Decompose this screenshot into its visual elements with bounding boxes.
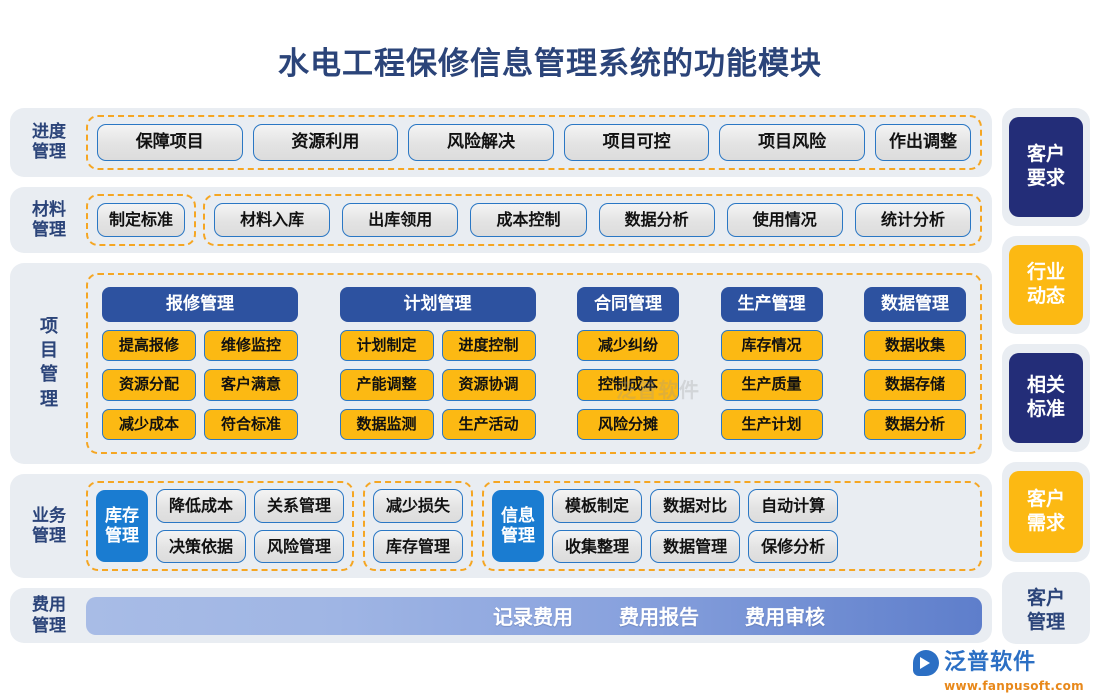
column-items-plan: 计划制定 进度控制 产能调整 资源协调 数据监测 生产活动 — [340, 330, 536, 441]
block-line-1: 信息 — [501, 506, 535, 527]
item-material-5[interactable]: 统计分析 — [855, 203, 971, 237]
section-label-material: 材料 管理 — [18, 200, 80, 240]
item-business-a-1-1[interactable]: 风险管理 — [254, 530, 344, 564]
rail-slot-2: 相关 标准 — [1002, 344, 1090, 452]
rail-slot-0: 客户 要求 — [1002, 108, 1090, 226]
rail-line-2: 标准 — [1027, 398, 1065, 422]
chip-production-2[interactable]: 生产计划 — [721, 409, 823, 441]
item-business-c-0-0[interactable]: 模板制定 — [552, 489, 642, 523]
section-body-project: 报修管理 提高报修 维修监控 资源分配 客户满意 减少成本 符合标准 — [86, 273, 982, 455]
item-business-a-0-1[interactable]: 关系管理 — [254, 489, 344, 523]
business-c-row-0: 模板制定 数据对比 自动计算 — [552, 489, 838, 523]
diagram-layout: 进度 管理 保障项目 资源利用 风险解决 项目可控 项目风险 作出调整 材料 管… — [10, 108, 1090, 644]
chip-plan-5[interactable]: 生产活动 — [442, 409, 536, 441]
chip-contract-2[interactable]: 风险分摊 — [577, 409, 679, 441]
item-material-4[interactable]: 使用情况 — [727, 203, 843, 237]
project-column-data: 数据管理 数据收集 数据存储 数据分析 — [864, 287, 966, 441]
business-b-grid: 减少损失 库存管理 — [373, 489, 463, 563]
fanpu-logo-icon — [913, 650, 939, 676]
block-information-management[interactable]: 信息 管理 — [492, 490, 544, 562]
business-b-row-1: 库存管理 — [373, 530, 463, 564]
section-label-business: 业务 管理 — [18, 506, 80, 546]
chip-repair-5[interactable]: 符合标准 — [204, 409, 298, 441]
rail-card-industry-trend[interactable]: 行业 动态 — [1009, 245, 1083, 325]
column-items-contract: 减少纠纷 控制成本 风险分摊 — [577, 330, 679, 441]
chip-contract-0[interactable]: 减少纠纷 — [577, 330, 679, 362]
column-header-data[interactable]: 数据管理 — [864, 287, 966, 322]
section-label-progress: 进度 管理 — [18, 122, 80, 162]
rail-line-1: 相关 — [1027, 374, 1065, 398]
rail-line-2: 管理 — [1027, 611, 1065, 635]
label-line-2: 管理 — [18, 220, 80, 240]
label-char-3: 理 — [18, 388, 80, 412]
chip-plan-4[interactable]: 数据监测 — [340, 409, 434, 441]
chip-plan-3[interactable]: 资源协调 — [442, 369, 536, 401]
business-a-row-1: 决策依据 风险管理 — [156, 530, 344, 564]
rail-slot-1: 行业 动态 — [1002, 236, 1090, 334]
item-material-2[interactable]: 成本控制 — [470, 203, 586, 237]
column-header-repair[interactable]: 报修管理 — [102, 287, 298, 322]
rail-card-related-standard[interactable]: 相关 标准 — [1009, 353, 1083, 443]
item-material-lead[interactable]: 制定标准 — [97, 203, 185, 237]
rail-slot-3: 客户 需求 — [1002, 462, 1090, 562]
chip-repair-1[interactable]: 维修监控 — [204, 330, 298, 362]
section-material-management: 材料 管理 制定标准 材料入库 出库领用 成本控制 数据分析 使用情况 统计分析 — [10, 187, 992, 253]
rail-line-2: 要求 — [1027, 167, 1065, 191]
rail-line-2: 需求 — [1027, 512, 1065, 536]
chip-plan-1[interactable]: 进度控制 — [442, 330, 536, 362]
business-a-row-0: 降低成本 关系管理 — [156, 489, 344, 523]
section-label-fee: 费用 管理 — [18, 595, 80, 635]
chip-data-1[interactable]: 数据存储 — [864, 369, 966, 401]
right-rail: 客户 要求 行业 动态 相关 标准 — [1002, 108, 1090, 644]
item-business-a-1-0[interactable]: 决策依据 — [156, 530, 246, 564]
rail-card-customer-demand[interactable]: 客户 需求 — [1009, 471, 1083, 553]
item-material-1[interactable]: 出库领用 — [342, 203, 458, 237]
column-header-production[interactable]: 生产管理 — [721, 287, 823, 322]
business-c-row-1: 收集整理 数据管理 保修分析 — [552, 530, 838, 564]
column-items-production: 库存情况 生产质量 生产计划 — [721, 330, 823, 441]
brand-logo: 泛普软件 www.fanpusoft.com — [913, 650, 1084, 692]
dashed-group-project: 报修管理 提高报修 维修监控 资源分配 客户满意 减少成本 符合标准 — [86, 273, 982, 455]
business-b-row-0: 减少损失 — [373, 489, 463, 523]
label-line-2: 管理 — [18, 526, 80, 546]
chip-data-2[interactable]: 数据分析 — [864, 409, 966, 441]
label-line-1: 材料 — [18, 200, 80, 220]
item-progress-5[interactable]: 作出调整 — [875, 124, 971, 161]
section-fee-management: 费用 管理 记录费用 费用报告 费用审核 — [10, 588, 992, 642]
item-business-c-0-2[interactable]: 自动计算 — [748, 489, 838, 523]
section-body-business: 库存 管理 降低成本 关系管理 决策依据 风险管理 — [86, 481, 982, 571]
chip-data-0[interactable]: 数据收集 — [864, 330, 966, 362]
section-progress-management: 进度 管理 保障项目 资源利用 风险解决 项目可控 项目风险 作出调整 — [10, 108, 992, 177]
item-business-c-1-1[interactable]: 数据管理 — [650, 530, 740, 564]
section-body-fee: 记录费用 费用报告 费用审核 — [86, 597, 982, 635]
section-business-management: 业务 管理 库存 管理 降低成本 关系管理 — [10, 474, 992, 578]
section-label-project: 项 目 管 理 — [18, 273, 80, 455]
item-fee-0[interactable]: 记录费用 — [493, 601, 573, 630]
dashed-group-business-a: 库存 管理 降低成本 关系管理 决策依据 风险管理 — [86, 481, 354, 571]
label-line-2: 管理 — [18, 616, 80, 636]
fee-bar: 记录费用 费用报告 费用审核 — [86, 597, 982, 635]
block-line-2: 管理 — [105, 526, 139, 547]
rail-line-1: 客户 — [1027, 143, 1065, 167]
chip-repair-0[interactable]: 提高报修 — [102, 330, 196, 362]
item-business-c-1-2[interactable]: 保修分析 — [748, 530, 838, 564]
project-column-plan: 计划管理 计划制定 进度控制 产能调整 资源协调 数据监测 生产活动 — [340, 287, 536, 441]
item-material-3[interactable]: 数据分析 — [599, 203, 715, 237]
column-header-plan[interactable]: 计划管理 — [340, 287, 536, 322]
label-char-1: 目 — [18, 339, 80, 363]
chip-plan-2[interactable]: 产能调整 — [340, 369, 434, 401]
item-fee-2[interactable]: 费用审核 — [745, 601, 825, 630]
rail-line-1: 客户 — [1027, 587, 1065, 611]
item-progress-2[interactable]: 风险解决 — [408, 124, 554, 161]
section-body-material: 制定标准 材料入库 出库领用 成本控制 数据分析 使用情况 统计分析 — [86, 194, 982, 246]
item-business-a-0-0[interactable]: 降低成本 — [156, 489, 246, 523]
column-header-contract[interactable]: 合同管理 — [577, 287, 679, 322]
item-business-b-1-0[interactable]: 库存管理 — [373, 530, 463, 564]
section-body-progress: 保障项目 资源利用 风险解决 项目可控 项目风险 作出调整 — [86, 115, 982, 170]
item-progress-1[interactable]: 资源利用 — [253, 124, 399, 161]
project-column-contract: 合同管理 减少纠纷 控制成本 风险分摊 — [577, 287, 679, 441]
column-items-data: 数据收集 数据存储 数据分析 — [864, 330, 966, 441]
project-column-production: 生产管理 库存情况 生产质量 生产计划 — [721, 287, 823, 441]
block-line-1: 库存 — [105, 506, 139, 527]
brand-top-row: 泛普软件 — [913, 650, 1036, 676]
label-line-1: 业务 — [18, 506, 80, 526]
column-items-repair: 提高报修 维修监控 资源分配 客户满意 减少成本 符合标准 — [102, 330, 298, 441]
item-business-b-0-0[interactable]: 减少损失 — [373, 489, 463, 523]
item-progress-4[interactable]: 项目风险 — [719, 124, 865, 161]
dashed-group-material: 材料入库 出库领用 成本控制 数据分析 使用情况 统计分析 — [203, 194, 982, 246]
brand-name: 泛普软件 — [944, 652, 1036, 674]
dashed-group-business-c: 信息 管理 模板制定 数据对比 自动计算 收集整理 数据管理 — [482, 481, 982, 571]
label-char-2: 管 — [18, 363, 80, 387]
chip-repair-2[interactable]: 资源分配 — [102, 369, 196, 401]
left-column: 进度 管理 保障项目 资源利用 风险解决 项目可控 项目风险 作出调整 材料 管… — [10, 108, 992, 644]
block-line-2: 管理 — [501, 526, 535, 547]
rail-card-customer-requirement[interactable]: 客户 要求 — [1009, 117, 1083, 217]
page-title: 水电工程保修信息管理系统的功能模块 — [0, 0, 1100, 93]
label-char-0: 项 — [18, 315, 80, 339]
item-business-c-1-0[interactable]: 收集整理 — [552, 530, 642, 564]
label-line-1: 进度 — [18, 122, 80, 142]
label-line-2: 管理 — [18, 142, 80, 162]
brand-url: www.fanpusoft.com — [944, 680, 1084, 692]
chip-production-0[interactable]: 库存情况 — [721, 330, 823, 362]
project-columns: 报修管理 提高报修 维修监控 资源分配 客户满意 减少成本 符合标准 — [102, 287, 966, 441]
chip-production-1[interactable]: 生产质量 — [721, 369, 823, 401]
rail-line-2: 动态 — [1027, 285, 1065, 309]
business-a-grid: 降低成本 关系管理 决策依据 风险管理 — [156, 489, 344, 563]
rail-card-customer-management[interactable]: 客户 管理 — [1009, 581, 1083, 641]
dashed-group-material-lead: 制定标准 — [86, 194, 196, 246]
chip-repair-4[interactable]: 减少成本 — [102, 409, 196, 441]
item-material-0[interactable]: 材料入库 — [214, 203, 330, 237]
label-line-1: 费用 — [18, 595, 80, 615]
item-fee-1[interactable]: 费用报告 — [619, 601, 699, 630]
section-project-management: 项 目 管 理 报修管理 提高报修 维修监控 资源分配 客户满意 — [10, 263, 992, 465]
rail-line-1: 行业 — [1027, 261, 1065, 285]
project-column-repair: 报修管理 提高报修 维修监控 资源分配 客户满意 减少成本 符合标准 — [102, 287, 298, 441]
rail-line-1: 客户 — [1027, 488, 1065, 512]
dashed-group-progress: 保障项目 资源利用 风险解决 项目可控 项目风险 作出调整 — [86, 115, 982, 170]
business-c-grid: 模板制定 数据对比 自动计算 收集整理 数据管理 保修分析 — [552, 489, 838, 563]
chip-plan-0[interactable]: 计划制定 — [340, 330, 434, 362]
rail-slot-4: 客户 管理 — [1002, 572, 1090, 644]
block-inventory-management[interactable]: 库存 管理 — [96, 490, 148, 562]
chip-repair-3[interactable]: 客户满意 — [204, 369, 298, 401]
item-progress-0[interactable]: 保障项目 — [97, 124, 243, 161]
chip-contract-1[interactable]: 控制成本 — [577, 369, 679, 401]
dashed-group-business-b: 减少损失 库存管理 — [363, 481, 473, 571]
item-progress-3[interactable]: 项目可控 — [564, 124, 710, 161]
item-business-c-0-1[interactable]: 数据对比 — [650, 489, 740, 523]
